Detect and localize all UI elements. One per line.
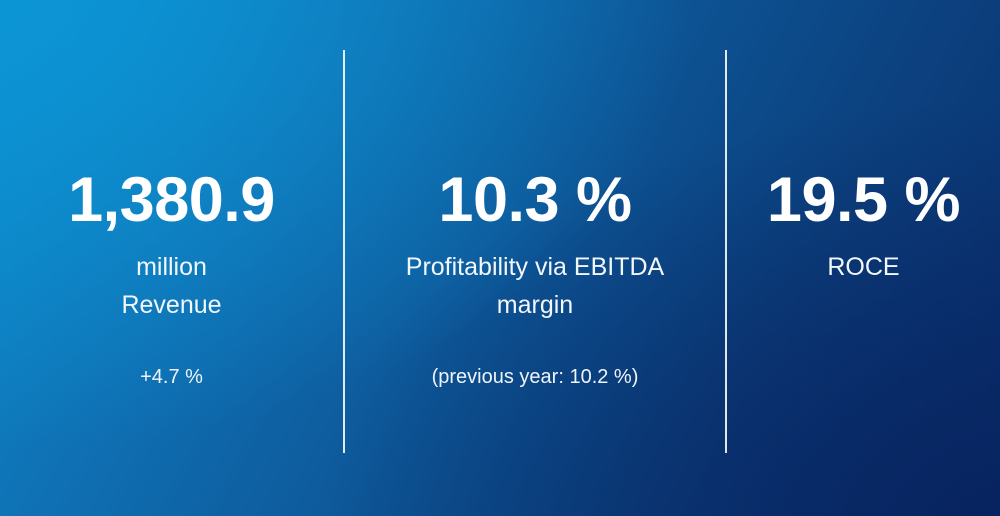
kpi-column-roce: 19.5 % ROCE — [727, 0, 1000, 516]
kpi-note-revenue: +4.7 % — [0, 363, 343, 391]
kpi-value-roce: 19.5 % — [727, 160, 1000, 240]
kpi-label-ebitda: Profitability via EBITDA margin — [345, 248, 725, 324]
kpi-note-ebitda: (previous year: 10.2 %) — [345, 363, 725, 391]
kpi-label-revenue: million Revenue — [0, 248, 343, 324]
kpi-value-ebitda: 10.3 % — [345, 160, 725, 240]
kpi-column-ebitda: 10.3 % Profitability via EBITDA margin (… — [345, 0, 725, 516]
kpi-label-revenue-line1: million — [0, 248, 343, 286]
kpi-banner: 1,380.9 million Revenue +4.7 % 10.3 % Pr… — [0, 0, 1000, 516]
kpi-label-roce: ROCE — [727, 248, 1000, 286]
kpi-label-ebitda-line1: Profitability via EBITDA — [345, 248, 725, 286]
kpi-label-roce-line1: ROCE — [727, 248, 1000, 286]
kpi-value-revenue: 1,380.9 — [0, 160, 343, 240]
kpi-label-ebitda-line2: margin — [345, 286, 725, 324]
kpi-column-revenue: 1,380.9 million Revenue +4.7 % — [0, 0, 343, 516]
kpi-label-revenue-line2: Revenue — [0, 286, 343, 324]
